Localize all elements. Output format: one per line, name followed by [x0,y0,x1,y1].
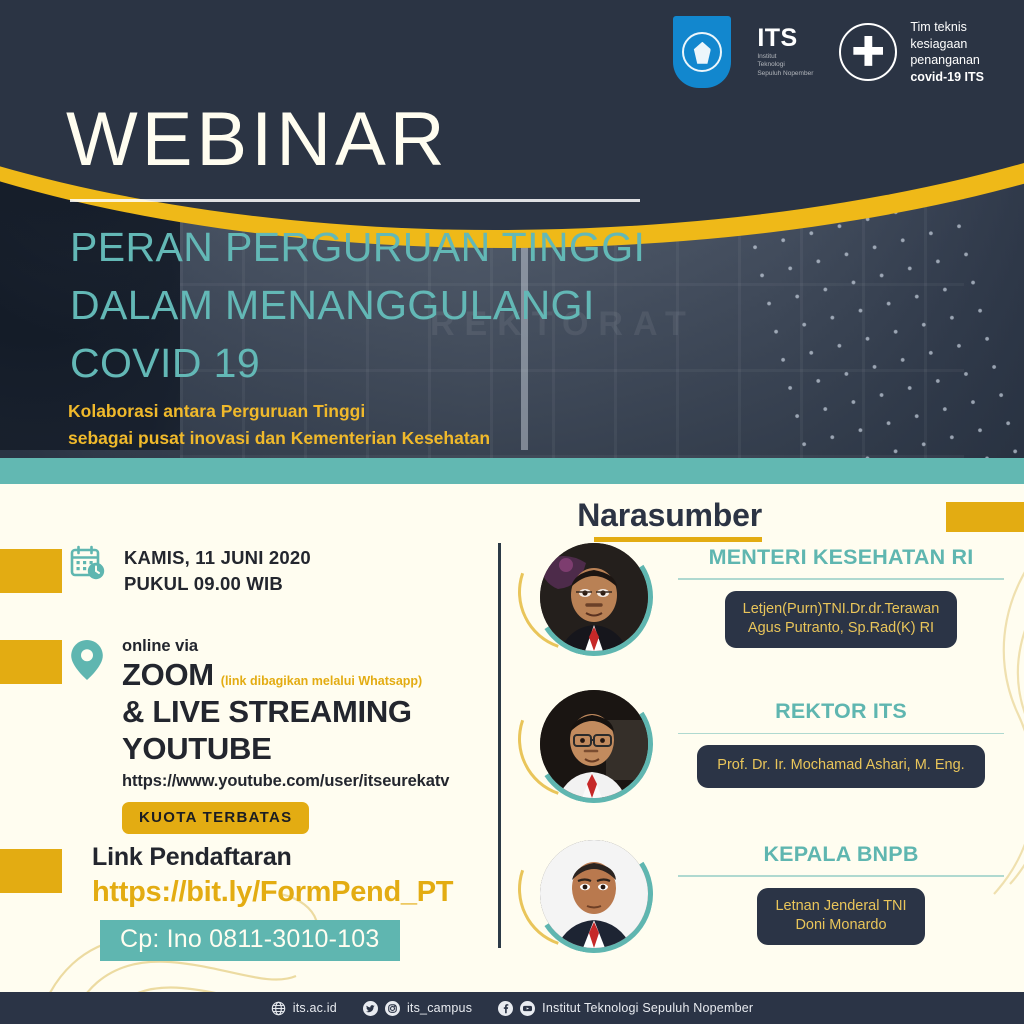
column-divider [498,543,501,948]
date-line-1: KAMIS, 11 JUNI 2020 [124,545,311,571]
speaker-portrait-wrap [540,543,648,651]
accent-bar-place [0,640,62,684]
portrait-terawan [540,543,648,651]
subtitle-line-2: sebagai pusat inovasi dan Kementerian Ke… [68,425,490,452]
avatar [540,840,648,948]
page-title: PERAN PERGURUAN TINGGI DALAM MENANGGULAN… [70,218,645,393]
youtube-icon [520,1001,535,1016]
its-logo [673,16,731,88]
twitter-icon [363,1001,378,1016]
footer-social-handle: its_campus [363,1001,472,1016]
speaker-card: REKTOR ITS Prof. Dr. Ir. Mochamad Ashari… [540,690,1010,798]
instagram-icon [385,1001,400,1016]
quota-badge: KUOTA TERBATAS [122,802,309,834]
webinar-poster: REKTORAT ITS InstitutTeknologiSepuluh No… [0,0,1024,1024]
live-streaming-label: & LIVE STREAMING [122,693,449,730]
speakers-heading-bar [946,502,1024,532]
youtube-label: YOUTUBE [122,730,449,767]
zoom-line: ZOOM (link dibagikan melalui Whatsapp) [122,658,449,693]
date-line-2: PUKUL 09.00 WIB [124,571,311,597]
webinar-label: WEBINAR [66,96,449,183]
logo-group: ITS InstitutTeknologiSepuluh Nopember Ti… [673,16,984,88]
website-text: its.ac.id [293,1001,337,1015]
date-info-row: KAMIS, 11 JUNI 2020 PUKUL 09.00 WIB [70,545,311,596]
speaker-role: REKTOR ITS [672,700,1010,724]
subtitle-line-1: Kolaborasi antara Perguruan Tinggi [68,398,490,425]
accent-bar-date [0,549,62,593]
social-handle-text: its_campus [407,1001,472,1015]
tim-line-3: penanganan [910,52,984,69]
place-details: online via ZOOM (link dibagikan melalui … [122,637,449,834]
tim-line-1: Tim teknis [910,19,984,36]
speaker-role: KEPALA BNPB [672,843,1010,867]
avatar [540,690,648,798]
speaker-portrait-wrap [540,690,648,798]
speaker-card: KEPALA BNPB Letnan Jenderal TNIDoni Mona… [540,840,1010,948]
its-abbr: ITS [757,26,813,51]
its-gear-icon [682,32,722,72]
place-info-row: online via ZOOM (link dibagikan melalui … [70,637,449,834]
speaker-role: MENTERI KESEHATAN RI [672,546,1010,570]
speaker-name: Letnan Jenderal TNIDoni Monardo [757,888,924,946]
registration-label: Link Pendaftaran [92,843,453,873]
speakers-heading-text: Narasumber [577,498,762,533]
its-fullname: InstitutTeknologiSepuluh Nopember [757,53,813,78]
subtitle: Kolaborasi antara Perguruan Tinggi sebag… [68,398,490,452]
speaker-portrait-wrap [540,840,648,948]
online-via-label: online via [122,637,449,657]
teal-divider-band [0,458,1024,484]
portrait-doni [540,840,648,948]
title-divider-rule [70,199,640,202]
speaker-name: Letjen(Purn)TNI.Dr.dr.TerawanAgus Putran… [725,591,958,649]
title-line-1: PERAN PERGURUAN TINGGI [70,218,645,276]
accent-bar-registration [0,849,62,893]
location-pin-icon [70,639,104,681]
title-line-3: COVID 19 [70,334,645,392]
speakers-heading: Narasumber [577,498,762,542]
poster-footer: its.ac.id its_campus [0,992,1024,1024]
globe-icon [271,1001,286,1016]
portrait-ashari [540,690,648,798]
footer-page-name: Institut Teknologi Sepuluh Nopember [498,1001,753,1016]
registration-block: Link Pendaftaran https://bit.ly/FormPend… [92,843,453,961]
speaker-info: KEPALA BNPB Letnan Jenderal TNIDoni Mona… [672,843,1010,946]
footer-website: its.ac.id [271,1001,337,1016]
speakers-heading-underline [594,537,762,542]
tim-line-2: kesiagaan [910,36,984,53]
facebook-icon [498,1001,513,1016]
speaker-rule [678,578,1004,580]
speaker-rule [678,733,1004,735]
speaker-info: MENTERI KESEHATAN RI Letjen(Purn)TNI.Dr.… [672,546,1010,649]
zoom-label: ZOOM [122,658,214,693]
covid-task-force-text: Tim teknis kesiagaan penanganan covid-19… [910,19,984,85]
tim-line-4: covid-19 ITS [910,69,984,86]
page-name-text: Institut Teknologi Sepuluh Nopember [542,1001,753,1015]
speaker-name: Prof. Dr. Ir. Mochamad Ashari, M. Eng. [697,745,984,787]
speaker-info: REKTOR ITS Prof. Dr. Ir. Mochamad Ashari… [672,700,1010,788]
speaker-rule [678,875,1004,877]
registration-url[interactable]: https://bit.ly/FormPend_PT [92,875,453,910]
avatar [540,543,648,651]
poster-header: REKTORAT ITS InstitutTeknologiSepuluh No… [0,0,1024,458]
covid-task-force-logo: Tim teknis kesiagaan penanganan covid-19… [839,19,984,85]
youtube-url[interactable]: https://www.youtube.com/user/itseurekatv [122,772,449,791]
speaker-card: MENTERI KESEHATAN RI Letjen(Purn)TNI.Dr.… [540,543,1010,651]
contact-badge: Cp: Ino 0811-3010-103 [100,920,400,961]
date-text: KAMIS, 11 JUNI 2020 PUKUL 09.00 WIB [124,545,311,596]
calendar-clock-icon [70,545,106,581]
title-line-2: DALAM MENANGGULANGI [70,276,645,334]
its-wordmark: ITS InstitutTeknologiSepuluh Nopember [757,26,813,78]
zoom-note: (link dibagikan melalui Whatsapp) [221,674,422,688]
covid-task-force-icon [839,23,897,81]
